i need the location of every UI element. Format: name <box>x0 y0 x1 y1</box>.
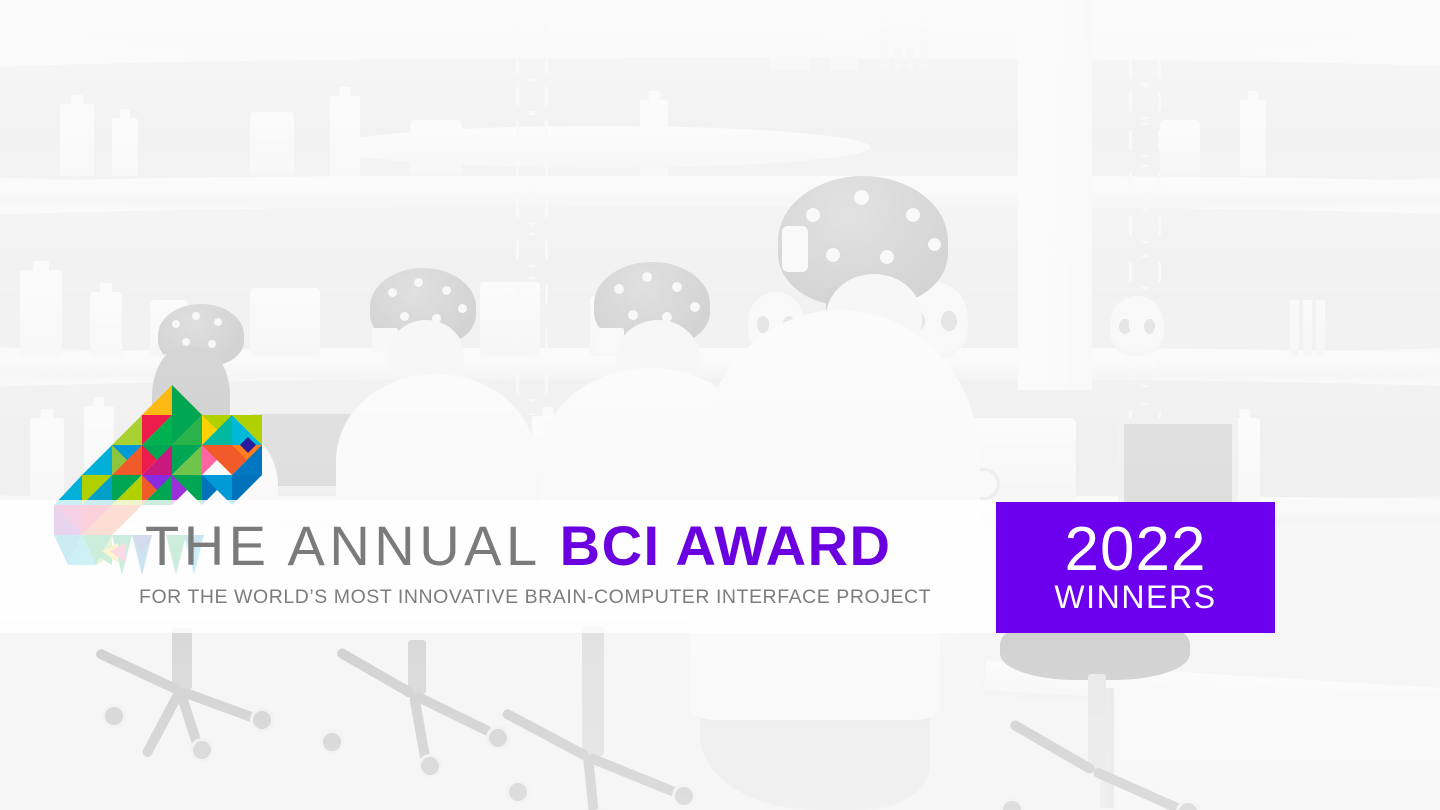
badge-year: 2022 <box>1065 520 1207 580</box>
test-tube <box>906 14 915 70</box>
glassware <box>112 118 138 176</box>
glassware <box>770 18 810 70</box>
molecular-model-chain <box>1128 40 1162 470</box>
test-tube <box>880 14 889 70</box>
title-the-annual: THE ANNUAL <box>145 514 560 577</box>
test-tube <box>1290 300 1299 356</box>
page-title: THE ANNUAL BCI AWARD <box>145 518 892 574</box>
pillar <box>1018 0 1092 390</box>
eeg-ear-piece <box>782 226 808 272</box>
office-chair-1 <box>90 628 310 778</box>
title-bci-award: BCI AWARD <box>560 514 892 577</box>
glassware <box>1160 120 1200 176</box>
shelf-cavity-top <box>0 58 1440 186</box>
lab-equipment <box>330 126 870 168</box>
glassware <box>250 112 294 176</box>
glassware <box>60 104 94 176</box>
page-subtitle: FOR THE WORLD’S MOST INNOVATIVE BRAIN-CO… <box>139 586 931 609</box>
test-tube <box>1316 300 1325 356</box>
glassware <box>830 26 858 70</box>
office-chair-4 <box>960 624 1220 810</box>
office-chair-3 <box>520 616 760 808</box>
office-chair-2 <box>300 640 540 800</box>
test-tube <box>919 14 928 70</box>
test-tube <box>1303 300 1312 356</box>
test-tube <box>893 14 902 70</box>
glassware <box>1240 100 1266 176</box>
award-banner-graphic: THE ANNUAL BCI AWARD FOR THE WORLD’S MOS… <box>0 0 1440 810</box>
glassware <box>90 292 122 356</box>
glassware <box>20 270 62 356</box>
winners-badge: 2022 WINNERS <box>996 502 1275 633</box>
badge-label: WINNERS <box>1054 581 1216 615</box>
glassware <box>330 96 360 176</box>
computer-monitor <box>1118 418 1238 514</box>
title-banner: THE ANNUAL BCI AWARD FOR THE WORLD’S MOS… <box>0 500 998 633</box>
